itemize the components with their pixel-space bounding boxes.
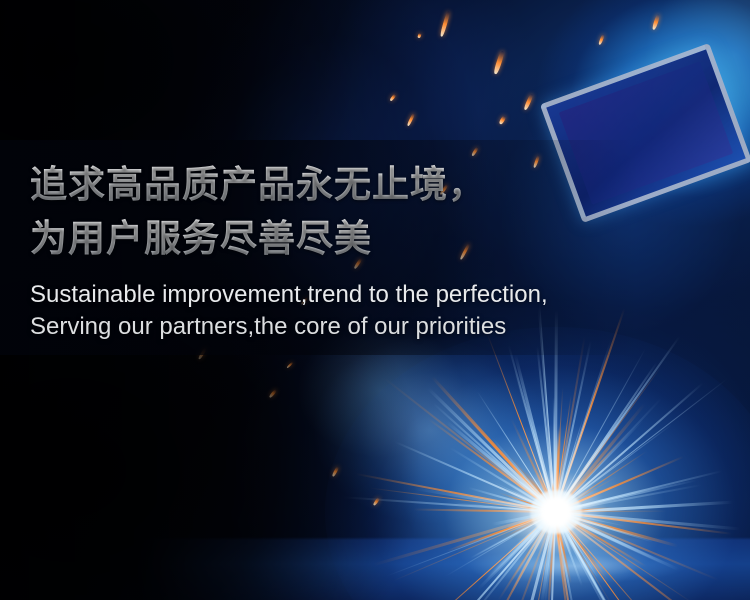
subheadline-line-1: Sustainable improvement,trend to the per… (30, 279, 730, 311)
headline-line-1: 追求高品质产品永无止境， (30, 158, 730, 212)
headline-line-2: 为用户服务尽善尽美 (30, 212, 730, 266)
welding-hero-banner: 追求高品质产品永无止境， 为用户服务尽善尽美 Sustainable impro… (0, 0, 750, 600)
welding-arc-core (530, 490, 582, 534)
banner-copy: 追求高品质产品永无止境， 为用户服务尽善尽美 Sustainable impro… (30, 158, 730, 343)
subheadline: Sustainable improvement,trend to the per… (30, 279, 730, 343)
subheadline-line-2: Serving our partners,the core of our pri… (30, 311, 730, 343)
